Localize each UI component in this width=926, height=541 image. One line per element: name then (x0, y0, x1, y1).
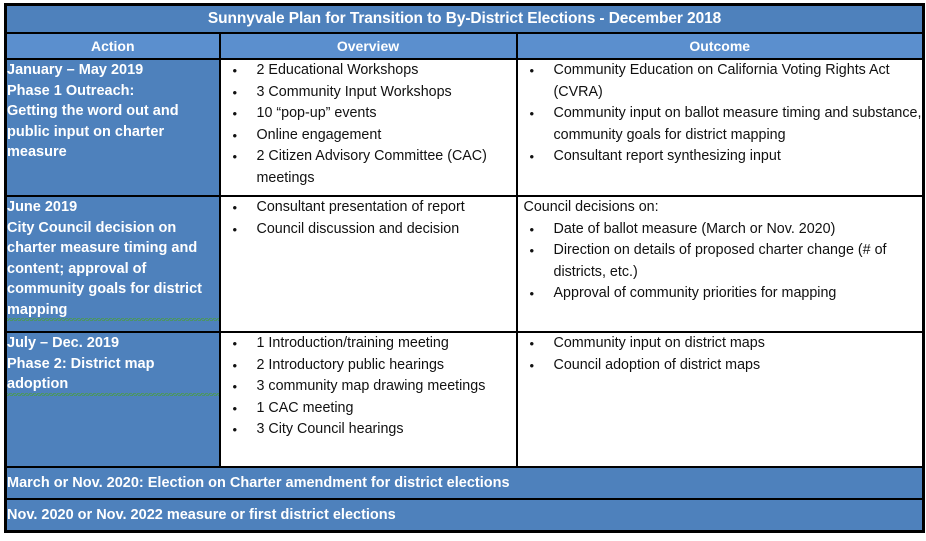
list-item: 1 Introduction/training meeting (221, 333, 516, 355)
column-header-outcome: Outcome (517, 33, 924, 59)
outcome-bullet-list: Community input on district maps Council… (518, 333, 923, 376)
column-header-overview: Overview (220, 33, 517, 59)
list-item: Council discussion and decision (221, 219, 516, 241)
overview-bullet-list: 2 Educational Workshops 3 Community Inpu… (221, 60, 516, 189)
table-row: July – Dec. 2019 Phase 2: District map a… (6, 332, 924, 467)
overview-bullet-list: 1 Introduction/training meeting 2 Introd… (221, 333, 516, 441)
page-title: Sunnyvale Plan for Transition to By-Dist… (6, 5, 924, 34)
table-footer-row: March or Nov. 2020: Election on Charter … (6, 467, 924, 499)
list-item: Community input on district maps (518, 333, 923, 355)
table-row: January – May 2019 Phase 1 Outreach: Get… (6, 59, 924, 196)
overview-cell-row-1: 2 Educational Workshops 3 Community Inpu… (220, 59, 517, 196)
action-line: Getting the word out and public input on… (7, 101, 219, 163)
list-item: 3 Community Input Workshops (221, 82, 516, 104)
list-item: 10 “pop-up” events (221, 103, 516, 125)
list-item: 2 Introductory public hearings (221, 355, 516, 377)
list-item: Direction on details of proposed charter… (518, 240, 923, 283)
list-item: 2 Educational Workshops (221, 60, 516, 82)
outcome-cell-row-3: Community input on district maps Council… (517, 332, 924, 467)
outcome-bullet-list: Community Education on California Voting… (518, 60, 923, 168)
list-item: Consultant presentation of report (221, 197, 516, 219)
transition-plan-table: Sunnyvale Plan for Transition to By-Dist… (4, 3, 925, 533)
list-item: 3 City Council hearings (221, 419, 516, 441)
outcome-lead-text: Council decisions on: (524, 197, 923, 219)
column-header-action: Action (6, 33, 220, 59)
list-item: 3 community map drawing meetings (221, 376, 516, 398)
list-item: 2 Citizen Advisory Committee (CAC) meeti… (221, 146, 516, 189)
footer-row-first-district-elections: Nov. 2020 or Nov. 2022 measure or first … (6, 499, 924, 532)
action-line: July – Dec. 2019 (7, 333, 219, 354)
plan-table-container: Sunnyvale Plan for Transition to By-Dist… (0, 0, 926, 541)
table-header-row: Action Overview Outcome (6, 33, 924, 59)
list-item: Approval of community priorities for map… (518, 283, 923, 305)
list-item: Date of ballot measure (March or Nov. 20… (518, 219, 923, 241)
action-line: June 2019 (7, 197, 219, 218)
outcome-cell-row-2: Council decisions on: Date of ballot mea… (517, 196, 924, 332)
action-cell-row-1: January – May 2019 Phase 1 Outreach: Get… (6, 59, 220, 196)
action-line: Phase 1 Outreach: (7, 81, 219, 102)
action-cell-row-3: July – Dec. 2019 Phase 2: District map a… (6, 332, 220, 467)
action-line: Phase 2: District map adoption (7, 354, 219, 396)
overview-bullet-list: Consultant presentation of report Counci… (221, 197, 516, 240)
list-item: Online engagement (221, 125, 516, 147)
footer-row-election: March or Nov. 2020: Election on Charter … (6, 467, 924, 499)
action-cell-row-2: June 2019 City Council decision on chart… (6, 196, 220, 332)
action-line: January – May 2019 (7, 60, 219, 81)
list-item: Community Education on California Voting… (518, 60, 923, 103)
list-item: Council adoption of district maps (518, 355, 923, 377)
list-item: Consultant report synthesizing input (518, 146, 923, 168)
table-footer-row: Nov. 2020 or Nov. 2022 measure or first … (6, 499, 924, 532)
overview-cell-row-2: Consultant presentation of report Counci… (220, 196, 517, 332)
list-item: Community input on ballot measure timing… (518, 103, 923, 146)
action-line: City Council decision on charter measure… (7, 218, 219, 322)
outcome-cell-row-1: Community Education on California Voting… (517, 59, 924, 196)
list-item: 1 CAC meeting (221, 398, 516, 420)
overview-cell-row-3: 1 Introduction/training meeting 2 Introd… (220, 332, 517, 467)
table-title-row: Sunnyvale Plan for Transition to By-Dist… (6, 5, 924, 34)
table-row: June 2019 City Council decision on chart… (6, 196, 924, 332)
outcome-bullet-list: Date of ballot measure (March or Nov. 20… (518, 219, 923, 305)
